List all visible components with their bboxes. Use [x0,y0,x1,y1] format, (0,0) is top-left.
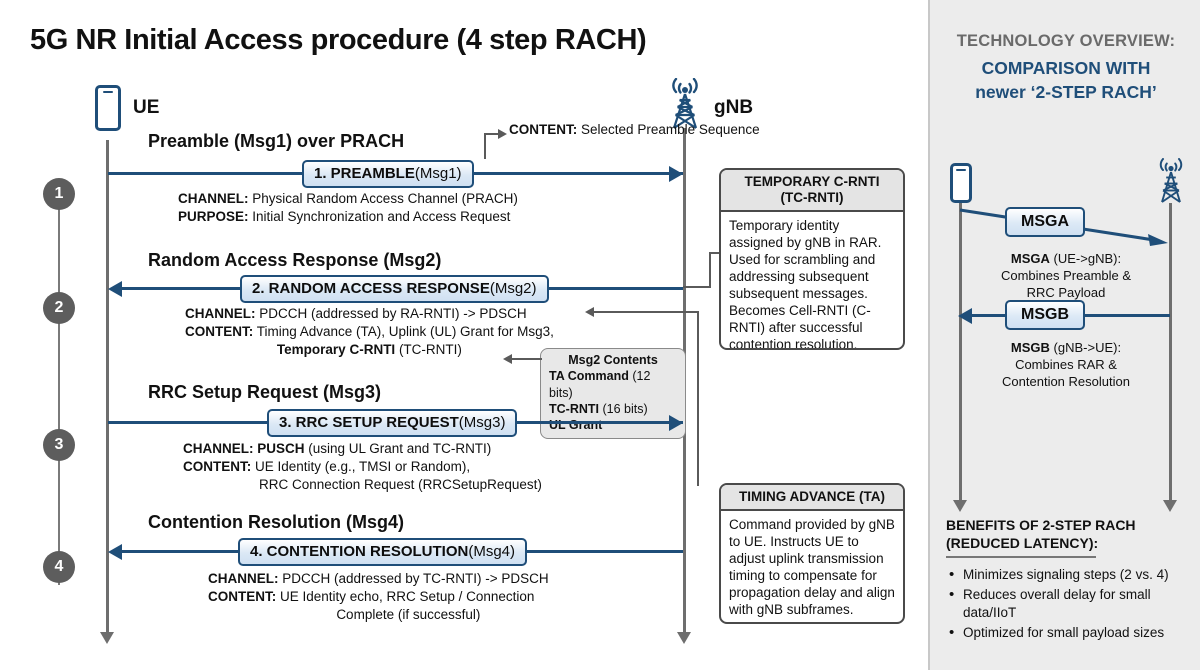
msgb-arrow-head [958,308,972,324]
msg2-bubble-row0-bold: TA Command [549,369,629,383]
infobox-1-body: Temporary identity assigned by gNB in RA… [721,212,903,350]
msgb-caption-line2: Combines RAR & [1015,357,1117,372]
msg2-label-bold: 2. RANDOM ACCESS RESPONSE [252,280,490,297]
msg4-detail-0-label: CHANNEL: [208,571,279,586]
infobox-1-title-line1: TEMPORARY C-RNTI [745,174,880,189]
step-badge-2: 2 [43,292,75,324]
msg2-bubble-row1-light: (16 bits) [599,402,648,416]
phase-title-4: Contention Resolution (Msg4) [148,512,404,533]
msg3-detail: CHANNEL: PUSCH (using UL Grant and TC-RN… [183,440,542,494]
msg4-detail-1-label: CONTENT: [208,589,276,604]
msg1-label-bold: 1. PREAMBLE [314,165,415,182]
benefits-divider [946,556,1096,558]
page-title: 5G NR Initial Access procedure (4 step R… [30,24,646,57]
step-rail [58,195,60,585]
msg4-label-bold: 4. CONTENTION RESOLUTION [250,543,468,560]
msg4-detail-2-text: Complete (if successful) [336,607,480,622]
rp-title-line2: COMPARISON WITH [930,58,1200,79]
rp-ue-lifeline-arrow [953,500,967,512]
msg2-pdsch-connector-v [697,311,699,486]
msgb-caption-bold: MSGB [1011,340,1050,355]
rp-title-line3: newer ‘2-STEP RACH’ [930,82,1200,103]
msgb-label-box[interactable]: MSGB [1005,300,1085,330]
tcrnti-connector-v [709,252,711,288]
msg2-arrow-head [108,281,122,297]
msg1-note-line2: Preamble Sequence [637,122,759,137]
msga-label-box[interactable]: MSGA [1005,207,1085,237]
msg4-detail-0-text: PDCCH (addressed by TC-RNTI) -> PDSCH [279,571,549,586]
msga-caption-line2: Combines Preamble & [1001,268,1131,283]
ue-lifeline [106,140,109,635]
msg2-pdsch-connector-h [594,311,699,313]
phase-title-1: Preamble (Msg1) over PRACH [148,131,404,152]
infobox-temporary-c-rnti: TEMPORARY C-RNTI (TC-RNTI) Temporary ide… [719,168,905,350]
msg4-label-light: (Msg4) [468,543,515,560]
msg3-detail-2-text: RRC Connection Request (RRCSetupRequest) [259,477,542,492]
step-badge-4: 4 [43,551,75,583]
msg1-arrow-head [669,166,683,182]
msg1-detail: CHANNEL: Physical Random Access Channel … [178,190,518,226]
main-sequence-panel: 5G NR Initial Access procedure (4 step R… [0,0,928,670]
msg2-label-light: (Msg2) [490,280,537,297]
infobox-timing-advance: TIMING ADVANCE (TA) Command provided by … [719,483,905,624]
msga-caption: MSGA (UE->gNB): Combines Preamble & RRC … [930,251,1200,302]
msgb-caption: MSGB (gNB->UE): Combines RAR & Contentio… [930,340,1200,391]
rp-gnb-lifeline-arrow [1163,500,1177,512]
rp-overline: TECHNOLOGY OVERVIEW: [930,32,1200,51]
gnb-lifeline-arrow [677,632,691,644]
msga-caption-bold: MSGA [1011,251,1050,266]
ue-lifeline-arrow [100,632,114,644]
msg3-detail-0-text: (using UL Grant and TC-RNTI) [305,441,492,456]
infobox-1-title-line2: (TC-RNTI) [781,190,844,205]
msg1-detail-0-label: CHANNEL: [178,191,249,206]
msgb-caption-light: (gNB->UE): [1050,340,1121,355]
benefit-item-1: Minimizes signaling steps (2 vs. 4) [948,566,1192,584]
msg2-contents-bubble: Msg2 Contents TA Command (12 bits) TC-RN… [540,348,686,439]
ue-label: UE [133,97,159,119]
msg2-detail-2-label: Temporary C-RNTI [277,342,395,357]
msg2-pdsch-connector-arrow [585,307,594,317]
infobox-2-body: Command provided by gNB to UE. Instructs… [721,511,903,624]
rp-gnb-tower-icon [1152,158,1190,204]
phase-title-3: RRC Setup Request (Msg3) [148,382,381,403]
msgb-caption-line3: Contention Resolution [1002,374,1130,389]
msg2-bubble-connector-arrow [503,354,512,364]
tcrnti-connector-h [683,286,711,288]
infobox-2-title-line1: TIMING ADVANCE (TA) [739,489,885,504]
msg4-detail: CHANNEL: PDCCH (addressed by TC-RNTI) ->… [208,570,549,624]
msg2-bubble-title: Msg2 Contents [549,352,677,368]
gnb-label: gNB [714,97,753,119]
msg3-label-bold: 3. RRC SETUP REQUEST [279,414,459,431]
infobox-2-header: TIMING ADVANCE (TA) [721,485,903,511]
msg4-label-box[interactable]: 4. CONTENTION RESOLUTION (Msg4) [238,538,527,566]
msg2-detail-0-text: PDCCH (addressed by RA-RNTI) -> PDSCH [256,306,527,321]
msg1-content-note: CONTENT: Selected Preamble Sequence [509,121,760,139]
benefit-item-2: Reduces overall delay for small data/IIo… [948,586,1192,622]
msg4-detail-1-text: UE Identity echo, RRC Setup / Connection [276,589,534,604]
benefit-item-3: Optimized for small payload sizes [948,624,1192,642]
msg3-arrow-head [669,415,683,431]
msg2-detail-2-text: (TC-RNTI) [395,342,462,357]
msg1-detail-1-text: Initial Synchronization and Access Reque… [249,209,511,224]
phase-title-2: Random Access Response (Msg2) [148,250,441,271]
benefits-title: BENEFITS OF 2-STEP RACH (REDUCED LATENCY… [946,517,1136,552]
msg1-label-box[interactable]: 1. PREAMBLE (Msg1) [302,160,474,188]
msg1-detail-0-text: Physical Random Access Channel (PRACH) [249,191,518,206]
step-badge-3: 3 [43,429,75,461]
msg2-detail: CHANNEL: PDCCH (addressed by RA-RNTI) ->… [185,305,554,359]
msga-caption-line3: RRC Payload [1027,285,1106,300]
msg2-detail-0-label: CHANNEL: [185,306,256,321]
msg3-detail-1-text: UE Identity (e.g., TMSI or Random), [251,459,470,474]
msg3-label-box[interactable]: 3. RRC SETUP REQUEST (Msg3) [267,409,517,437]
msg2-bubble-connector-h [512,358,542,360]
msg2-label-box[interactable]: 2. RANDOM ACCESS RESPONSE (Msg2) [240,275,549,303]
msg2-detail-1-label: CONTENT: [185,324,253,339]
msg3-label-light: (Msg3) [459,414,506,431]
benefits-title-line2: (REDUCED LATENCY): [946,535,1098,551]
benefits-title-line1: BENEFITS OF 2-STEP RACH [946,517,1136,533]
diagram-canvas: 5G NR Initial Access procedure (4 step R… [0,0,1200,670]
infobox-1-header: TEMPORARY C-RNTI (TC-RNTI) [721,170,903,212]
rp-ue-phone-icon [950,163,972,203]
msg3-detail-1-label: CONTENT: [183,459,251,474]
step-badge-1: 1 [43,178,75,210]
msg3-detail-0-label: CHANNEL: PUSCH [183,441,305,456]
msg1-label-light: (Msg1) [415,165,462,182]
msga-caption-light: (UE->gNB): [1050,251,1121,266]
msg1-note-value: Selected [577,122,633,137]
msg1-detail-1-label: PURPOSE: [178,209,249,224]
msg2-bubble-row1-bold: TC-RNTI [549,402,599,416]
msg1-note-connector-arrow [498,129,507,139]
ue-phone-icon [95,85,121,131]
msg2-detail-1-text: Timing Advance (TA), Uplink (UL) Grant f… [253,324,554,339]
msg1-note-label: CONTENT: [509,122,577,137]
technology-overview-panel: TECHNOLOGY OVERVIEW: COMPARISON WITH new… [928,0,1200,670]
msg4-arrow-head [108,544,122,560]
benefits-list: Minimizes signaling steps (2 vs. 4) Redu… [948,566,1192,644]
msg1-note-connector-v [484,133,486,159]
